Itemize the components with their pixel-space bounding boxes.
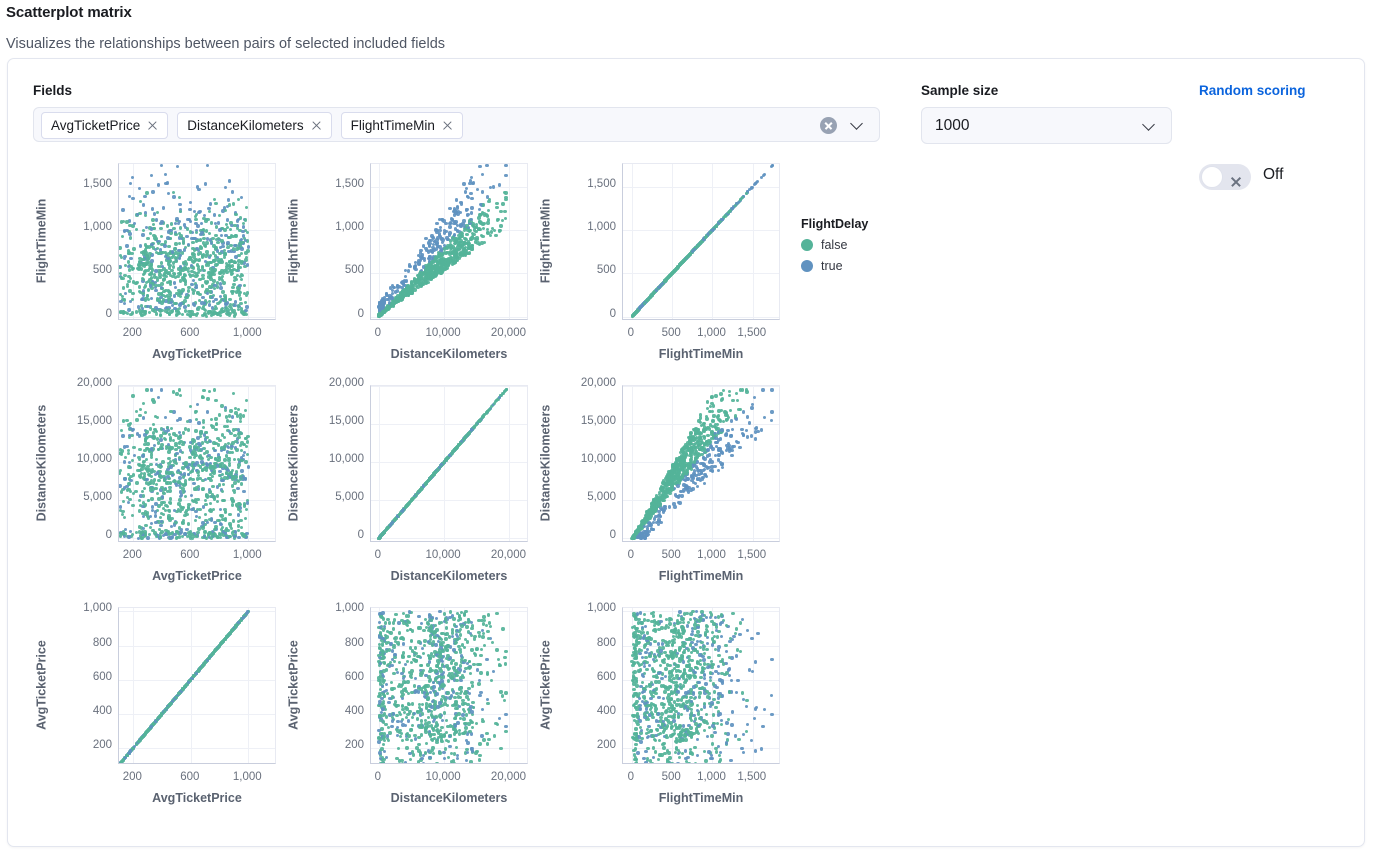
data-point bbox=[138, 448, 141, 451]
data-point bbox=[192, 482, 195, 485]
field-pill[interactable]: AvgTicketPrice bbox=[41, 112, 168, 139]
sample-size-select[interactable]: 1000 bbox=[921, 107, 1172, 144]
data-point bbox=[750, 187, 753, 190]
data-point bbox=[131, 292, 134, 295]
data-point bbox=[167, 450, 170, 453]
data-point bbox=[169, 436, 172, 439]
data-point bbox=[194, 510, 197, 513]
data-point bbox=[167, 429, 170, 432]
data-point bbox=[428, 268, 431, 271]
data-point bbox=[145, 447, 148, 450]
data-point bbox=[436, 267, 439, 270]
gridline bbox=[248, 386, 249, 541]
data-point bbox=[148, 435, 151, 438]
clear-circle-icon[interactable] bbox=[820, 117, 837, 134]
data-point bbox=[242, 490, 245, 493]
data-point bbox=[160, 292, 163, 295]
data-point bbox=[480, 241, 483, 244]
data-point bbox=[123, 460, 126, 463]
data-point bbox=[717, 222, 720, 225]
data-point bbox=[390, 297, 393, 300]
data-point bbox=[234, 312, 237, 315]
data-point bbox=[231, 286, 234, 289]
data-point bbox=[219, 314, 222, 317]
data-point bbox=[241, 230, 244, 233]
data-point bbox=[209, 202, 212, 205]
data-point bbox=[138, 525, 141, 528]
data-point bbox=[233, 458, 236, 461]
data-point bbox=[120, 276, 123, 279]
gridline bbox=[119, 386, 275, 387]
gridline bbox=[509, 386, 510, 541]
y-axis-tick-label: 1,000 bbox=[292, 221, 364, 233]
data-point bbox=[182, 239, 185, 242]
y-axis-tick-label: 0 bbox=[292, 308, 364, 320]
data-point bbox=[449, 239, 452, 242]
data-point bbox=[228, 472, 231, 475]
data-point bbox=[181, 268, 184, 271]
data-point bbox=[194, 218, 197, 221]
data-point bbox=[155, 218, 158, 221]
data-point bbox=[197, 188, 200, 191]
data-point bbox=[190, 283, 193, 286]
data-point bbox=[239, 416, 242, 419]
data-point bbox=[190, 494, 193, 497]
data-point bbox=[210, 533, 213, 536]
data-point bbox=[247, 245, 250, 248]
data-point bbox=[128, 434, 131, 437]
data-point bbox=[244, 437, 247, 440]
data-point bbox=[138, 499, 141, 502]
data-point bbox=[210, 221, 213, 224]
data-point bbox=[177, 446, 180, 449]
data-point bbox=[137, 463, 140, 466]
data-point bbox=[178, 535, 181, 538]
data-point bbox=[413, 265, 416, 268]
data-point bbox=[172, 195, 175, 198]
data-point bbox=[143, 530, 146, 533]
data-point bbox=[231, 190, 234, 193]
data-point bbox=[231, 503, 234, 506]
data-point bbox=[216, 241, 219, 244]
data-point bbox=[175, 217, 178, 220]
data-point bbox=[213, 198, 216, 201]
data-point bbox=[182, 490, 185, 493]
data-point bbox=[128, 461, 131, 464]
data-point bbox=[123, 255, 126, 258]
scatterplot-cell[interactable]: 05,00010,00015,00020,0002006001,000Dista… bbox=[33, 377, 283, 599]
data-point bbox=[127, 535, 130, 538]
y-axis-tick-label: 500 bbox=[40, 264, 112, 276]
data-point bbox=[499, 224, 502, 227]
data-point bbox=[188, 456, 191, 459]
data-point bbox=[242, 454, 245, 457]
data-point bbox=[121, 510, 124, 513]
data-point bbox=[194, 519, 197, 522]
field-pill[interactable]: FlightTimeMin bbox=[341, 112, 463, 139]
data-point bbox=[443, 247, 446, 250]
chevron-down-icon[interactable] bbox=[1144, 120, 1155, 131]
data-point bbox=[174, 256, 177, 259]
data-point bbox=[131, 197, 134, 200]
data-point bbox=[123, 302, 126, 305]
random-scoring-label[interactable]: Random scoring bbox=[1199, 83, 1306, 98]
data-point bbox=[133, 454, 136, 457]
data-point bbox=[237, 463, 240, 466]
scatterplot-cell[interactable]: 05001,0001,50005001,0001,500FlightTimeMi… bbox=[537, 155, 787, 377]
scatterplot-cell[interactable]: 05001,0001,5002006001,000FlightTimeMinAv… bbox=[33, 155, 283, 377]
data-point bbox=[159, 313, 162, 316]
data-point bbox=[163, 244, 166, 247]
data-point bbox=[194, 215, 197, 218]
data-point bbox=[173, 523, 176, 526]
data-point bbox=[178, 388, 181, 391]
data-point bbox=[160, 164, 163, 167]
data-point bbox=[468, 229, 471, 232]
data-point bbox=[185, 235, 188, 238]
data-point bbox=[146, 237, 149, 240]
data-point bbox=[209, 502, 212, 505]
data-point bbox=[119, 505, 122, 508]
data-point bbox=[227, 442, 230, 445]
data-point bbox=[240, 526, 243, 529]
data-point bbox=[142, 416, 145, 419]
data-point bbox=[138, 187, 141, 190]
data-point bbox=[145, 254, 148, 257]
data-point bbox=[205, 315, 208, 318]
data-point bbox=[173, 460, 176, 463]
data-point bbox=[195, 231, 198, 234]
data-point bbox=[197, 421, 200, 424]
data-point bbox=[232, 428, 235, 431]
data-point bbox=[211, 425, 214, 428]
data-point bbox=[128, 224, 131, 227]
data-point bbox=[166, 236, 169, 239]
data-point bbox=[223, 425, 226, 428]
data-point bbox=[166, 224, 169, 227]
field-pill-label: AvgTicketPrice bbox=[51, 118, 140, 133]
data-point bbox=[398, 299, 401, 302]
gridline bbox=[379, 386, 380, 541]
data-point bbox=[459, 239, 462, 242]
data-point bbox=[470, 218, 473, 221]
data-point bbox=[224, 409, 227, 412]
data-point bbox=[231, 264, 234, 267]
data-point bbox=[181, 506, 184, 509]
data-point bbox=[196, 436, 199, 439]
data-point bbox=[173, 247, 176, 250]
data-point bbox=[160, 501, 163, 504]
data-point bbox=[234, 411, 237, 414]
data-point bbox=[157, 396, 160, 399]
data-point bbox=[204, 299, 207, 302]
data-point bbox=[146, 294, 149, 297]
data-point bbox=[440, 267, 443, 270]
data-point bbox=[144, 214, 147, 217]
data-point bbox=[129, 182, 132, 185]
data-point bbox=[170, 427, 173, 430]
data-point bbox=[400, 286, 403, 289]
data-point bbox=[178, 291, 181, 294]
data-point bbox=[189, 441, 192, 444]
data-point bbox=[149, 427, 152, 430]
data-point bbox=[161, 265, 164, 268]
data-point bbox=[155, 483, 158, 486]
data-point bbox=[150, 456, 153, 459]
data-point bbox=[240, 459, 243, 462]
data-point bbox=[233, 434, 236, 437]
data-point bbox=[239, 519, 242, 522]
data-point bbox=[498, 183, 501, 186]
data-point bbox=[206, 463, 209, 466]
data-point bbox=[179, 254, 182, 257]
data-point bbox=[481, 223, 484, 226]
data-point bbox=[218, 228, 221, 231]
gridline bbox=[379, 164, 380, 319]
data-point bbox=[470, 176, 473, 179]
data-point bbox=[135, 481, 138, 484]
data-point bbox=[222, 483, 225, 486]
data-point bbox=[244, 460, 247, 463]
data-point bbox=[168, 509, 171, 512]
data-point bbox=[196, 531, 199, 534]
remove-field-icon[interactable] bbox=[147, 120, 158, 131]
data-point bbox=[496, 218, 499, 221]
data-point bbox=[125, 445, 128, 448]
scatterplot-cell[interactable]: 05001,0001,500010,00020,000FlightTimeMin… bbox=[285, 155, 535, 377]
data-point bbox=[127, 260, 130, 263]
data-point bbox=[202, 419, 205, 422]
data-point bbox=[192, 289, 195, 292]
data-point bbox=[231, 499, 234, 502]
data-point bbox=[449, 250, 452, 253]
data-point bbox=[188, 534, 191, 537]
page-title: Scatterplot matrix bbox=[6, 4, 132, 21]
scatterplot-cell[interactable]: 05,00010,00015,00020,000010,00020,000Dis… bbox=[285, 377, 535, 599]
data-point bbox=[125, 244, 128, 247]
data-point bbox=[188, 256, 191, 259]
data-point bbox=[142, 402, 145, 405]
data-point bbox=[696, 244, 699, 247]
gridline bbox=[371, 187, 527, 188]
data-point bbox=[164, 416, 167, 419]
data-point bbox=[495, 202, 498, 205]
data-point bbox=[239, 241, 242, 244]
remove-field-icon[interactable] bbox=[442, 120, 453, 131]
data-point bbox=[237, 513, 240, 516]
data-point bbox=[179, 295, 182, 298]
field-pill-label: DistanceKilometers bbox=[187, 118, 303, 133]
data-point bbox=[166, 475, 169, 478]
data-point bbox=[158, 474, 161, 477]
data-point bbox=[641, 304, 644, 307]
data-point bbox=[176, 419, 179, 422]
data-point bbox=[124, 292, 127, 295]
random-scoring-toggle[interactable] bbox=[1199, 164, 1251, 190]
data-point bbox=[201, 469, 204, 472]
data-point bbox=[150, 447, 153, 450]
data-point bbox=[409, 289, 412, 292]
data-point bbox=[215, 423, 218, 426]
data-point bbox=[210, 312, 213, 315]
data-point bbox=[237, 218, 240, 221]
data-point bbox=[150, 297, 153, 300]
data-point bbox=[208, 210, 211, 213]
data-point bbox=[240, 252, 243, 255]
data-point bbox=[477, 227, 480, 230]
data-point bbox=[168, 260, 171, 263]
data-point bbox=[162, 298, 165, 301]
data-point bbox=[196, 308, 199, 311]
data-point bbox=[209, 479, 212, 482]
data-point bbox=[735, 202, 738, 205]
data-point bbox=[150, 259, 153, 262]
data-point bbox=[242, 414, 245, 417]
data-point bbox=[141, 490, 144, 493]
data-point bbox=[217, 221, 220, 224]
data-point bbox=[213, 213, 216, 216]
data-point bbox=[121, 235, 124, 238]
plot-area bbox=[370, 385, 528, 542]
data-point bbox=[450, 217, 453, 220]
data-point bbox=[186, 218, 189, 221]
data-point bbox=[504, 164, 507, 167]
data-point bbox=[721, 218, 724, 221]
data-point bbox=[212, 300, 215, 303]
data-point bbox=[206, 521, 209, 524]
data-point bbox=[131, 504, 134, 507]
data-point bbox=[179, 490, 182, 493]
data-point bbox=[655, 289, 658, 292]
data-point bbox=[244, 218, 247, 221]
data-point bbox=[211, 485, 214, 488]
data-point bbox=[183, 248, 186, 251]
data-point bbox=[459, 244, 462, 247]
data-point bbox=[193, 456, 196, 459]
data-point bbox=[435, 222, 438, 225]
data-point bbox=[124, 456, 127, 459]
data-point bbox=[209, 509, 212, 512]
data-point bbox=[137, 305, 140, 308]
data-point bbox=[146, 305, 149, 308]
data-point bbox=[129, 236, 132, 239]
data-point bbox=[204, 219, 207, 222]
y-axis-tick-label: 5,000 bbox=[40, 491, 112, 503]
y-axis-tick-label: 500 bbox=[292, 264, 364, 276]
data-point bbox=[208, 303, 211, 306]
data-point bbox=[238, 293, 241, 296]
data-point bbox=[152, 423, 155, 426]
data-point bbox=[173, 479, 176, 482]
field-pill[interactable]: DistanceKilometers bbox=[177, 112, 331, 139]
data-point bbox=[477, 216, 480, 219]
y-axis-tick-label: 1,000 bbox=[544, 221, 616, 233]
data-point bbox=[145, 478, 148, 481]
data-point bbox=[226, 419, 229, 422]
data-point bbox=[240, 469, 243, 472]
fields-combobox[interactable]: AvgTicketPriceDistanceKilometersFlightTi… bbox=[33, 107, 880, 142]
data-point bbox=[745, 192, 748, 195]
data-point bbox=[226, 476, 229, 479]
data-point bbox=[228, 312, 231, 315]
data-point bbox=[188, 313, 191, 316]
data-point bbox=[145, 191, 148, 194]
x-axis-title: DistanceKilometers bbox=[370, 347, 528, 361]
data-point bbox=[157, 464, 160, 467]
gridline bbox=[371, 538, 527, 539]
data-point bbox=[168, 291, 171, 294]
data-point bbox=[178, 242, 181, 245]
data-point bbox=[179, 530, 182, 533]
data-point bbox=[202, 505, 205, 508]
data-point bbox=[122, 500, 125, 503]
data-point bbox=[467, 246, 470, 249]
data-point bbox=[212, 495, 215, 498]
data-point bbox=[175, 452, 178, 455]
data-point bbox=[227, 198, 230, 201]
data-point bbox=[244, 409, 247, 412]
data-point bbox=[156, 492, 159, 495]
data-point bbox=[465, 187, 468, 190]
data-point bbox=[157, 479, 160, 482]
data-point bbox=[417, 279, 420, 282]
y-axis-tick-label: 0 bbox=[544, 308, 616, 320]
data-point bbox=[456, 248, 459, 251]
data-point bbox=[219, 246, 222, 249]
data-point bbox=[476, 188, 479, 191]
data-point bbox=[190, 508, 193, 511]
data-point bbox=[634, 311, 637, 314]
data-point bbox=[126, 488, 129, 491]
data-point bbox=[682, 260, 685, 263]
data-point bbox=[237, 266, 240, 269]
remove-field-icon[interactable] bbox=[311, 120, 322, 131]
data-point bbox=[232, 268, 235, 271]
data-point bbox=[412, 280, 415, 283]
data-point bbox=[138, 434, 141, 437]
data-point bbox=[185, 262, 188, 265]
data-point bbox=[445, 266, 448, 269]
gridline bbox=[371, 273, 527, 274]
data-point bbox=[224, 302, 227, 305]
data-point bbox=[172, 191, 175, 194]
y-axis-tick-label: 1,000 bbox=[40, 221, 112, 233]
scatterplot-matrix-page: Scatterplot matrix Visualizes the relati… bbox=[0, 0, 1373, 859]
data-point bbox=[441, 260, 444, 263]
data-point bbox=[199, 245, 202, 248]
data-point bbox=[234, 255, 237, 258]
field-pill-label: FlightTimeMin bbox=[351, 118, 435, 133]
data-point bbox=[172, 265, 175, 268]
data-point bbox=[202, 389, 205, 392]
data-point bbox=[145, 436, 148, 439]
data-point bbox=[236, 487, 239, 490]
data-point bbox=[153, 478, 156, 481]
data-point bbox=[233, 279, 236, 282]
data-point bbox=[151, 398, 154, 401]
chevron-down-icon[interactable] bbox=[852, 119, 863, 130]
data-point bbox=[454, 254, 457, 257]
data-point bbox=[504, 174, 507, 177]
data-point bbox=[151, 207, 154, 210]
data-point bbox=[195, 410, 198, 413]
data-point bbox=[121, 208, 124, 211]
data-point bbox=[495, 206, 498, 209]
data-point bbox=[237, 524, 240, 527]
data-point bbox=[160, 530, 163, 533]
data-point bbox=[154, 289, 157, 292]
data-point bbox=[151, 218, 154, 221]
